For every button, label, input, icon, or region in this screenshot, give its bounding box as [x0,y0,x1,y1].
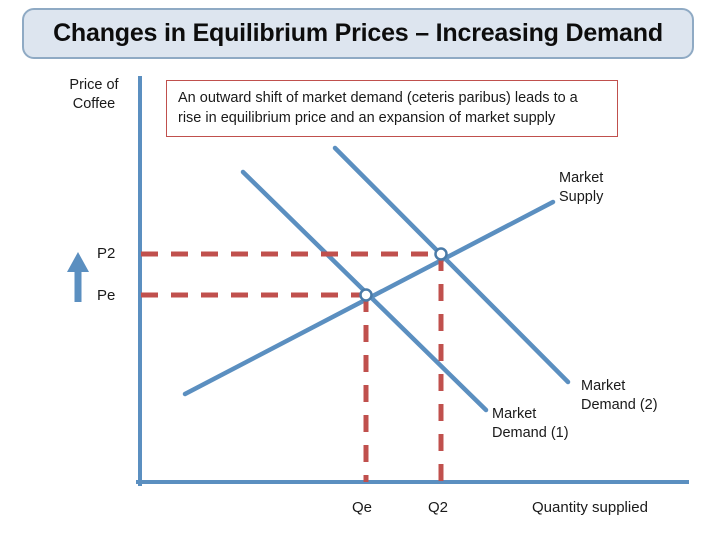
market-supply-label: Market Supply [559,169,603,207]
annotation-line-2: rise in equilibrium price and an expansi… [178,108,607,128]
market-demand-2-label-line-2: Demand (2) [581,396,658,415]
market-supply-label-line-2: Supply [559,188,603,207]
market-demand-1-label: Market Demand (1) [492,405,569,443]
market-demand-1-label-line-1: Market [492,405,569,424]
equilibrium-2-guides [141,254,441,482]
quantity-tick-label-qe: Qe [352,498,372,517]
market-supply-label-line-1: Market [559,169,603,188]
market-demand-2-label: Market Demand (2) [581,377,658,415]
market-demand-1-label-line-2: Demand (1) [492,424,569,443]
equilibrium-point-2-marker [436,249,447,260]
price-increase-arrow-icon [67,252,89,302]
equilibrium-point-1-marker [361,290,372,301]
slide-canvas: Changes in Equilibrium Prices – Increasi… [0,0,720,539]
market-demand-2-label-line-1: Market [581,377,658,396]
y-axis-label: Price of Coffee [57,76,131,114]
y-axis-label-line-1: Price of [57,76,131,95]
annotation-callout: An outward shift of market demand (ceter… [166,80,618,137]
chart-axes [138,78,687,484]
annotation-line-1: An outward shift of market demand (ceter… [178,88,607,108]
x-axis-label: Quantity supplied [532,498,648,517]
y-axis-label-line-2: Coffee [57,95,131,114]
equilibrium-1-guides [141,295,366,482]
price-tick-label-p2: P2 [97,244,115,263]
quantity-tick-label-q2: Q2 [428,498,448,517]
price-tick-label-pe: Pe [97,286,115,305]
market-demand-2-curve [335,148,568,382]
